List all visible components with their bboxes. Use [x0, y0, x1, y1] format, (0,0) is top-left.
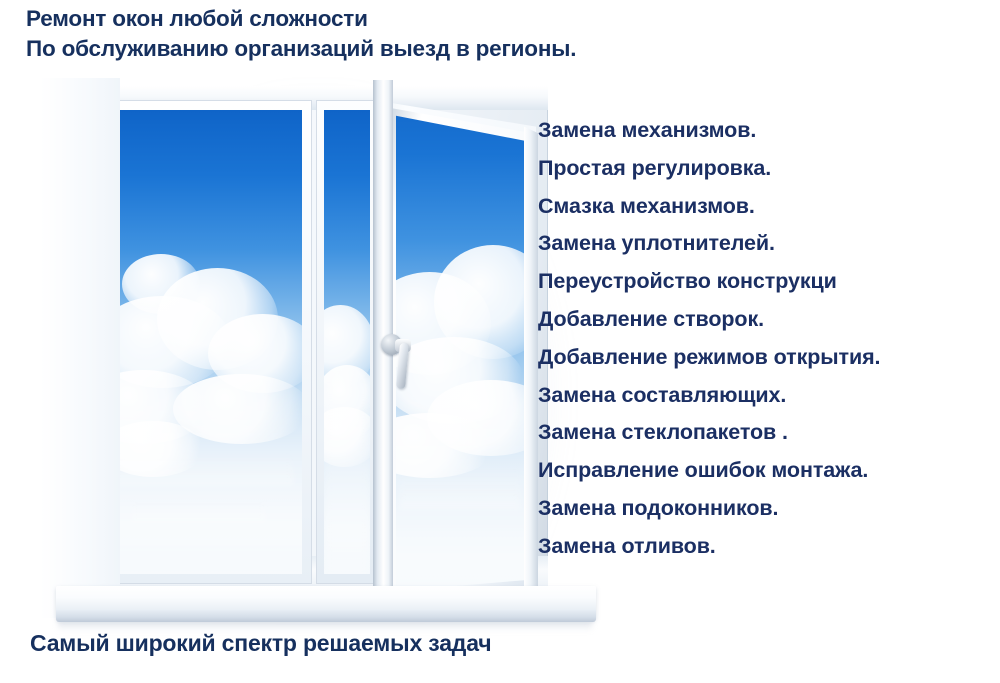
service-item: Замена уплотнителей.	[538, 225, 998, 263]
service-item: Замена стеклопакетов .	[538, 414, 998, 452]
header-line-2: По обслуживанию организаций выезд в реги…	[26, 34, 806, 64]
window-handle[interactable]	[381, 334, 429, 396]
glass-reflection	[114, 453, 294, 485]
header-block: Ремонт окон любой сложности По обслужива…	[26, 4, 806, 64]
service-item: Добавление режимов открытия.	[538, 339, 998, 377]
service-item: Переустройство конструкци	[538, 263, 998, 301]
sky-haze	[324, 388, 370, 574]
window-illustration	[40, 78, 600, 626]
wall-background	[40, 78, 120, 618]
narrow-pane-glass	[324, 110, 370, 574]
service-item: Замена отливов.	[538, 528, 998, 566]
service-item: Смазка механизмов.	[538, 188, 998, 226]
open-sash-edge	[524, 78, 538, 618]
glass-reflection	[399, 467, 522, 510]
service-item: Добавление створок.	[538, 301, 998, 339]
service-item: Исправление ошибок монтажа.	[538, 452, 998, 490]
service-item: Замена подоконников.	[538, 490, 998, 528]
window-sill-front	[56, 610, 596, 622]
glass-reflection	[130, 500, 267, 523]
service-item: Замена механизмов.	[538, 112, 998, 150]
fixed-sash-glass	[106, 110, 302, 574]
service-item: Замена составляющих.	[538, 377, 998, 415]
service-item: Простая регулировка.	[538, 150, 998, 188]
cloud-shape	[122, 254, 200, 314]
header-line-1: Ремонт окон любой сложности	[26, 4, 806, 34]
services-list: Замена механизмов. Простая регулировка. …	[538, 112, 998, 566]
poster-canvas: Ремонт окон любой сложности По обслужива…	[0, 0, 1000, 683]
footer-caption: Самый широкий спектр решаемых задач	[30, 628, 491, 658]
